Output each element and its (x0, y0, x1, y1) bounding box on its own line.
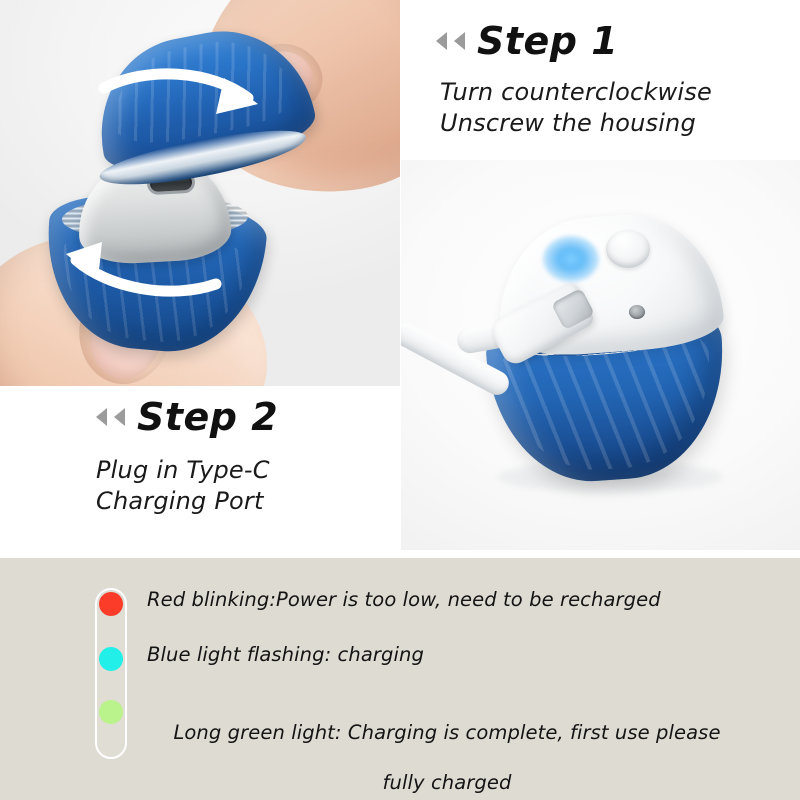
legend-text-red: Red blinking:Power is too low, need to b… (147, 588, 661, 613)
step2-description: Plug in Type-C Charging Port (96, 455, 400, 517)
legend-item-blue: Blue light flashing: charging (95, 643, 424, 671)
infographic-page: Step 1 Turn counterclockwise Unscrew the… (0, 0, 800, 800)
step1-photo (0, 0, 400, 386)
status-legend-band: Red blinking:Power is too low, need to b… (0, 558, 800, 800)
red-status-dot (99, 592, 123, 616)
legend-text-green-line1: Long green light: Charging is complete, … (147, 721, 747, 746)
step2-text-block: Step 2 Plug in Type-C Charging Port (0, 386, 400, 558)
left-triangle-icon-outer (96, 408, 107, 426)
legend-item-red: Red blinking:Power is too low, need to b… (95, 588, 661, 616)
step2-photo (401, 160, 800, 550)
step1-description: Turn counterclockwise Unscrew the housin… (440, 77, 800, 139)
housing-screw (629, 305, 645, 319)
left-triangle-icon-inner (454, 32, 465, 50)
green-status-dot (99, 700, 123, 724)
power-button (606, 230, 650, 268)
left-triangle-icon-inner (114, 408, 125, 426)
step1-text-block: Step 1 Turn counterclockwise Unscrew the… (400, 0, 800, 160)
legend-text-green: Long green light: Charging is complete, … (147, 696, 747, 800)
step2-heading: Step 2 (96, 398, 400, 437)
blue-status-dot (99, 647, 123, 671)
step2-title: Step 2 (137, 398, 278, 437)
legend-text-green-line2: fully charged (147, 771, 747, 796)
left-triangle-icon-outer (436, 32, 447, 50)
blue-led-indicator (543, 236, 599, 282)
step1-heading: Step 1 (436, 22, 800, 61)
legend-rows: Red blinking:Power is too low, need to b… (95, 588, 735, 768)
legend-item-green: Long green light: Charging is complete, … (95, 696, 747, 800)
legend-text-blue: Blue light flashing: charging (147, 643, 424, 668)
step1-title: Step 1 (477, 22, 618, 61)
